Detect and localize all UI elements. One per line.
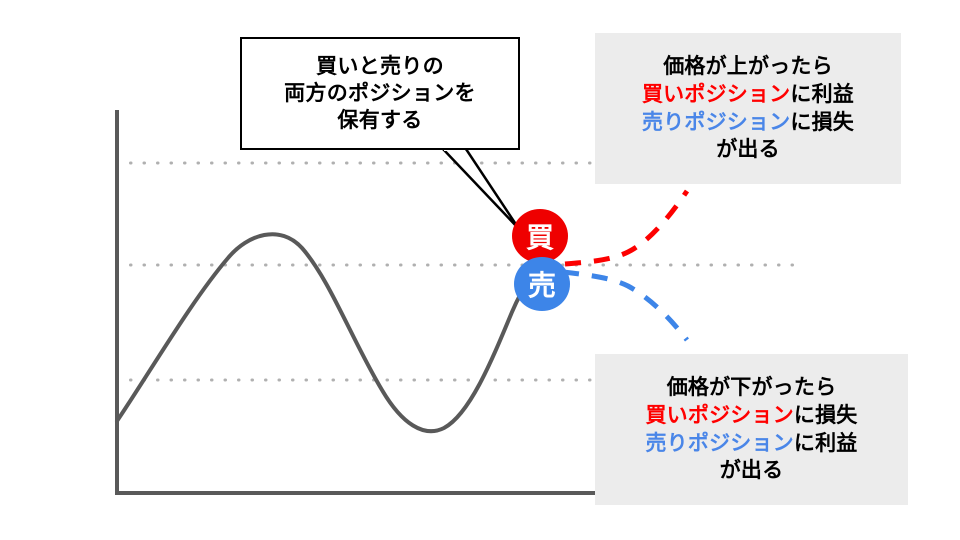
sell-position-marker-label: 売 [528, 264, 556, 304]
info-panel-line: 売りポジションに利益 [645, 430, 857, 458]
info-panel-line: 売りポジションに損失 [642, 109, 854, 137]
info-panel-segment: 売りポジション [642, 110, 790, 134]
info-panel-segment: 売りポジション [645, 431, 793, 455]
info-panel-price-up: 価格が上がったら買いポジションに利益売りポジションに損失が出る [595, 33, 901, 184]
info-panel-segment: 買いポジション [645, 403, 793, 427]
info-panel-price-up-text: 価格が上がったら買いポジションに利益売りポジションに損失が出る [642, 53, 854, 164]
info-panel-price-down-text: 価格が下がったら買いポジションに損失売りポジションに利益が出る [645, 374, 857, 485]
diagram-canvas: 買いと売りの 両方のポジションを 保有する 価格が上がったら買いポジションに利益… [0, 0, 960, 540]
info-panel-segment: に損失 [794, 403, 858, 427]
price-down-dashed-curve [563, 272, 687, 340]
info-panel-segment: が出る [716, 137, 780, 161]
price-up-dashed-curve [565, 191, 687, 264]
info-panel-segment: に利益 [794, 431, 858, 455]
buy-position-marker-label: 買 [526, 216, 554, 256]
info-panel-line: が出る [642, 136, 854, 164]
callout-tail [443, 149, 519, 229]
info-panel-segment: に利益 [790, 82, 854, 106]
info-panel-line: 価格が上がったら [642, 53, 854, 81]
info-panel-line: 価格が下がったら [645, 374, 857, 402]
info-panel-line: 買いポジションに損失 [645, 402, 857, 430]
info-panel-segment: が出る [720, 458, 784, 482]
buy-position-marker[interactable]: 買 [512, 209, 568, 263]
info-panel-segment: 価格が上がったら [663, 54, 833, 78]
info-panel-segment: に損失 [790, 110, 854, 134]
info-panel-segment: 価格が下がったら [667, 375, 837, 399]
callout-bubble-text: 買いと売りの 両方のポジションを 保有する [284, 53, 476, 134]
sell-position-marker[interactable]: 売 [514, 257, 570, 311]
info-panel-line: 買いポジションに利益 [642, 81, 854, 109]
info-panel-segment: 買いポジション [642, 82, 790, 106]
info-panel-line: が出る [645, 457, 857, 485]
info-panel-price-down: 価格が下がったら買いポジションに損失売りポジションに利益が出る [595, 354, 908, 505]
callout-bubble: 買いと売りの 両方のポジションを 保有する [240, 37, 520, 150]
